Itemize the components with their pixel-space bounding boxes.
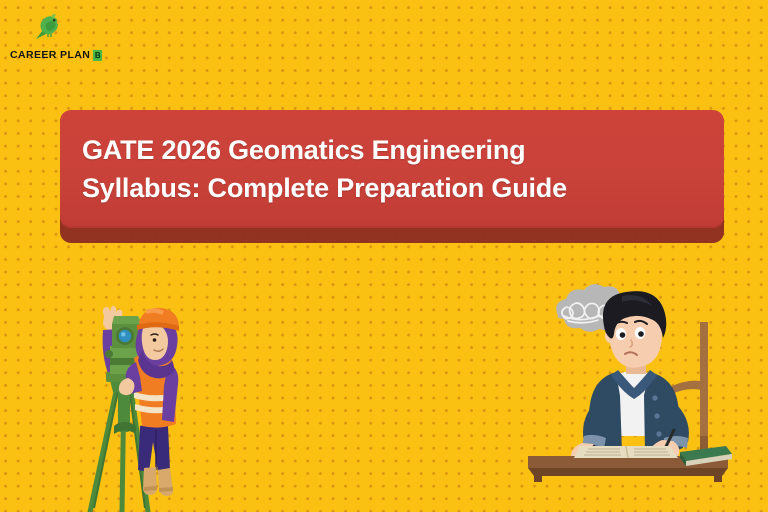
surveyor-with-theodolite-illustration bbox=[84, 296, 204, 512]
open-notebook-icon bbox=[574, 446, 678, 458]
logo-brand-text: CAREER PLAN bbox=[10, 50, 90, 61]
blog-featured-image: CAREER PLAN B GATE 2026 Geomatics Engine… bbox=[0, 0, 768, 512]
logo-wordmark: CAREER PLAN B bbox=[10, 50, 102, 61]
title-banner: GATE 2026 Geomatics Engineering Syllabus… bbox=[60, 110, 724, 243]
green-parrot-icon bbox=[30, 12, 64, 42]
confused-student-studying-illustration bbox=[522, 286, 734, 482]
logo-badge: B bbox=[93, 50, 102, 61]
site-logo[interactable]: CAREER PLAN B bbox=[8, 12, 104, 62]
banner-title-line-2: Syllabus: Complete Preparation Guide bbox=[82, 169, 702, 207]
banner-title-line-1: GATE 2026 Geomatics Engineering bbox=[82, 131, 702, 169]
banner-body: GATE 2026 Geomatics Engineering Syllabus… bbox=[60, 110, 724, 228]
